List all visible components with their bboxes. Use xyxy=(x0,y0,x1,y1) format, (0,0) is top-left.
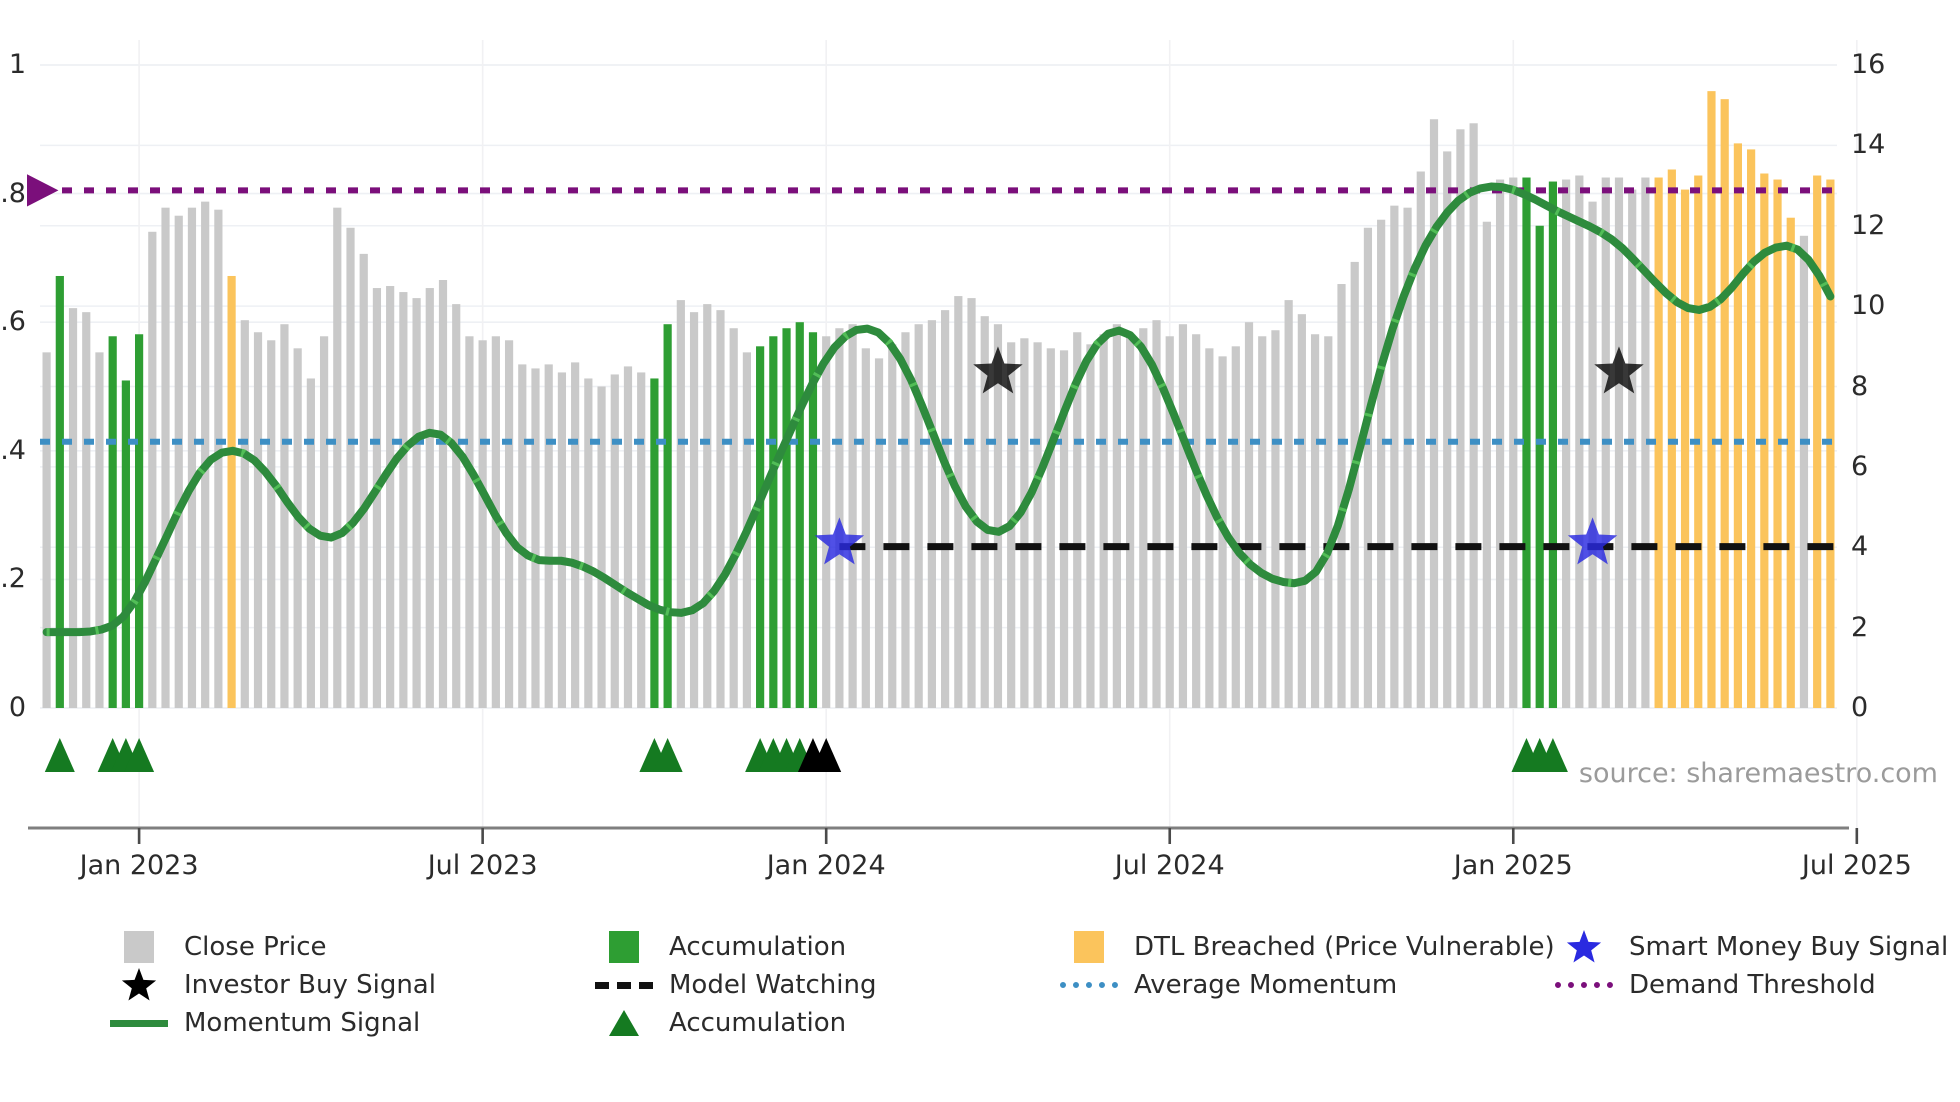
legend-label: Average Momentum xyxy=(1134,970,1397,1000)
bar-close-price[interactable] xyxy=(161,208,169,708)
legend-square-icon xyxy=(609,931,639,963)
bar-close-price[interactable] xyxy=(1271,330,1279,708)
bar-close-price[interactable] xyxy=(1086,344,1094,708)
bar-close-price[interactable] xyxy=(307,378,315,708)
bar-close-price[interactable] xyxy=(571,362,579,708)
bar-close-price[interactable] xyxy=(320,336,328,708)
bar-close-price[interactable] xyxy=(505,340,513,708)
x-axis-tick-label: Jan 2024 xyxy=(716,852,936,879)
bar-close-price[interactable] xyxy=(597,387,605,709)
bar-close-price[interactable] xyxy=(611,374,619,708)
bar-close-price[interactable] xyxy=(452,304,460,708)
legend-label: Accumulation xyxy=(669,932,846,962)
y-axis-left-tick-label: 0.8 xyxy=(0,180,26,207)
bar-close-price[interactable] xyxy=(439,280,447,708)
bar-close-price[interactable] xyxy=(188,208,196,708)
legend-square-icon xyxy=(124,931,154,963)
bar-close-price[interactable] xyxy=(558,372,566,708)
legend-line-icon xyxy=(110,1020,168,1027)
bar-close-price[interactable] xyxy=(412,298,420,708)
legend-item-average-momentum[interactable]: Average Momentum xyxy=(1060,966,1397,1004)
y-axis-right-tick-label: 6 xyxy=(1851,453,1868,480)
bar-close-price[interactable] xyxy=(1800,236,1808,708)
bar-accumulation[interactable] xyxy=(782,328,790,708)
bar-accumulation[interactable] xyxy=(650,378,658,708)
legend-square-icon xyxy=(1074,931,1104,963)
bar-close-price[interactable] xyxy=(1311,334,1319,708)
bar-close-price[interactable] xyxy=(1430,119,1438,708)
bar-close-price[interactable] xyxy=(267,340,275,708)
y-axis-right-tick-label: 10 xyxy=(1851,292,1885,319)
bar-close-price[interactable] xyxy=(716,310,724,708)
bar-close-price[interactable] xyxy=(254,332,262,708)
source-attribution: source: sharemaestro.com xyxy=(1579,758,1938,789)
bar-accumulation[interactable] xyxy=(796,322,804,708)
legend-label: Close Price xyxy=(184,932,327,962)
y-axis-right-tick-label: 16 xyxy=(1851,51,1885,78)
bar-dtl-breached[interactable] xyxy=(1747,149,1755,708)
y-axis-right-tick-label: 8 xyxy=(1851,373,1868,400)
bar-close-price[interactable] xyxy=(69,308,77,708)
bar-close-price[interactable] xyxy=(294,348,302,708)
y-axis-left-tick-label: 0.6 xyxy=(0,308,26,335)
legend-row: Momentum SignalAccumulation xyxy=(0,1004,1960,1042)
bar-close-price[interactable] xyxy=(1470,123,1478,708)
y-axis-left-tick-label: 0.4 xyxy=(0,437,26,464)
bar-close-price[interactable] xyxy=(479,340,487,708)
legend-item-momentum-signal[interactable]: Momentum Signal xyxy=(110,1004,420,1042)
bar-close-price[interactable] xyxy=(95,352,103,708)
bar-accumulation[interactable] xyxy=(769,336,777,708)
bar-accumulation[interactable] xyxy=(109,336,117,708)
demand-threshold-start-marker xyxy=(27,174,58,206)
bar-dtl-breached[interactable] xyxy=(1681,190,1689,708)
bar-close-price[interactable] xyxy=(849,324,857,708)
bar-close-price[interactable] xyxy=(1377,220,1385,708)
y-axis-right-tick-label: 12 xyxy=(1851,212,1885,239)
bar-dtl-breached[interactable] xyxy=(1734,143,1742,708)
bar-close-price[interactable] xyxy=(928,320,936,708)
legend-label: Model Watching xyxy=(669,970,876,1000)
legend-item-model-watching[interactable]: Model Watching xyxy=(595,966,876,1004)
chart-legend: Close PriceAccumulationDTL Breached (Pri… xyxy=(0,928,1960,1042)
legend-dotted-line-icon xyxy=(1060,982,1118,988)
y-axis-right-tick-label: 14 xyxy=(1851,131,1885,158)
bar-close-price[interactable] xyxy=(531,368,539,708)
legend-star-icon xyxy=(1564,927,1604,967)
bar-dtl-breached[interactable] xyxy=(1707,91,1715,708)
legend-star-icon xyxy=(119,965,159,1005)
bar-close-price[interactable] xyxy=(901,332,909,708)
y-axis-left-tick-label: 0 xyxy=(9,694,26,721)
bar-close-price[interactable] xyxy=(1298,314,1306,708)
bar-close-price[interactable] xyxy=(690,312,698,708)
bar-dtl-breached[interactable] xyxy=(227,276,235,708)
legend-item-close-price[interactable]: Close Price xyxy=(110,928,327,966)
bar-close-price[interactable] xyxy=(1628,190,1636,708)
bar-close-price[interactable] xyxy=(399,292,407,708)
bar-close-price[interactable] xyxy=(1443,151,1451,708)
bar-close-price[interactable] xyxy=(1245,322,1253,708)
legend-label: DTL Breached (Price Vulnerable) xyxy=(1134,932,1555,962)
legend-dotted-line-icon xyxy=(1555,982,1613,988)
bar-close-price[interactable] xyxy=(1324,336,1332,708)
legend-dashed-line-icon xyxy=(595,982,653,989)
x-axis-tick-label: Jan 2025 xyxy=(1403,852,1623,879)
bar-close-price[interactable] xyxy=(1285,300,1293,708)
x-axis-tick-label: Jul 2023 xyxy=(373,852,593,879)
y-axis-left-tick-label: 0.2 xyxy=(0,565,26,592)
bar-close-price[interactable] xyxy=(465,336,473,708)
legend-item-dtl-breached[interactable]: DTL Breached (Price Vulnerable) xyxy=(1060,928,1555,966)
bar-close-price[interactable] xyxy=(888,344,896,708)
legend-label: Momentum Signal xyxy=(184,1008,420,1038)
bar-dtl-breached[interactable] xyxy=(1668,169,1676,708)
bar-accumulation[interactable] xyxy=(1549,182,1557,708)
legend-item-demand-threshold[interactable]: Demand Threshold xyxy=(1555,966,1876,1004)
bar-close-price[interactable] xyxy=(1483,222,1491,708)
bar-close-price[interactable] xyxy=(1364,228,1372,708)
y-axis-right-tick-label: 2 xyxy=(1851,614,1868,641)
bar-close-price[interactable] xyxy=(1615,178,1623,708)
bar-close-price[interactable] xyxy=(1456,129,1464,708)
y-axis-right-tick-label: 0 xyxy=(1851,694,1868,721)
bar-accumulation[interactable] xyxy=(1536,226,1544,708)
bar-close-price[interactable] xyxy=(1179,324,1187,708)
bar-close-price[interactable] xyxy=(1139,328,1147,708)
bar-close-price[interactable] xyxy=(967,298,975,708)
bar-accumulation[interactable] xyxy=(122,380,130,708)
legend-item-accumulation-bar[interactable]: Accumulation xyxy=(595,928,846,966)
bar-close-price[interactable] xyxy=(333,208,341,708)
bar-close-price[interactable] xyxy=(201,202,209,708)
bar-close-price[interactable] xyxy=(1192,334,1200,708)
y-axis-left-tick-label: 1 xyxy=(9,51,26,78)
bar-close-price[interactable] xyxy=(637,372,645,708)
bar-close-price[interactable] xyxy=(346,228,354,708)
bar-close-price[interactable] xyxy=(1205,348,1213,708)
legend-triangle-icon xyxy=(605,1006,643,1040)
bar-close-price[interactable] xyxy=(545,364,553,708)
accumulation-triangle-marker[interactable] xyxy=(45,738,75,772)
legend-label: Smart Money Buy Signal xyxy=(1629,932,1948,962)
bar-close-price[interactable] xyxy=(175,216,183,708)
bar-accumulation[interactable] xyxy=(756,346,764,708)
legend-row: Investor Buy SignalModel WatchingAverage… xyxy=(0,966,1960,1004)
bar-close-price[interactable] xyxy=(677,300,685,708)
chart-root: 00.20.40.60.81 0246810121416 Jan 2023Jul… xyxy=(0,0,1960,1102)
bar-close-price[interactable] xyxy=(875,358,883,708)
legend-label: Demand Threshold xyxy=(1629,970,1876,1000)
bar-close-price[interactable] xyxy=(1100,334,1108,708)
bar-close-price[interactable] xyxy=(148,232,156,708)
y-axis-right-tick-label: 4 xyxy=(1851,533,1868,560)
bar-close-price[interactable] xyxy=(280,324,288,708)
bar-close-price[interactable] xyxy=(43,352,51,708)
bar-close-price[interactable] xyxy=(703,304,711,708)
bar-accumulation[interactable] xyxy=(664,324,672,708)
bar-close-price[interactable] xyxy=(1047,348,1055,708)
bar-dtl-breached[interactable] xyxy=(1813,176,1821,708)
legend-label: Investor Buy Signal xyxy=(184,970,436,1000)
bar-close-price[interactable] xyxy=(822,336,830,708)
legend-item-investor-buy-signal[interactable]: Investor Buy Signal xyxy=(110,966,436,1004)
bar-close-price[interactable] xyxy=(1113,324,1121,708)
bar-close-price[interactable] xyxy=(1020,338,1028,708)
legend-row: Close PriceAccumulationDTL Breached (Pri… xyxy=(0,928,1960,966)
bar-close-price[interactable] xyxy=(518,364,526,708)
bar-accumulation[interactable] xyxy=(135,334,143,708)
bar-close-price[interactable] xyxy=(386,286,394,708)
bar-close-price[interactable] xyxy=(584,378,592,708)
bar-close-price[interactable] xyxy=(82,312,90,708)
bar-close-price[interactable] xyxy=(1588,202,1596,708)
bar-accumulation[interactable] xyxy=(56,276,64,708)
legend-label: Accumulation xyxy=(669,1008,846,1038)
x-axis-tick-label: Jul 2025 xyxy=(1747,852,1960,879)
bar-close-price[interactable] xyxy=(624,366,632,708)
bar-close-price[interactable] xyxy=(730,328,738,708)
bar-close-price[interactable] xyxy=(1232,346,1240,708)
bar-close-price[interactable] xyxy=(1390,206,1398,708)
bar-close-price[interactable] xyxy=(941,310,949,708)
bar-close-price[interactable] xyxy=(1126,334,1134,708)
bar-close-price[interactable] xyxy=(360,254,368,708)
bar-close-price[interactable] xyxy=(862,348,870,708)
legend-item-smart-money-buy-signal[interactable]: Smart Money Buy Signal xyxy=(1555,928,1948,966)
legend-item-accumulation-triangle[interactable]: Accumulation xyxy=(595,1004,846,1042)
x-axis-tick-label: Jan 2023 xyxy=(29,852,249,879)
bar-close-price[interactable] xyxy=(1258,336,1266,708)
bar-dtl-breached[interactable] xyxy=(1787,218,1795,708)
x-axis-tick-label: Jul 2024 xyxy=(1060,852,1280,879)
bar-close-price[interactable] xyxy=(426,288,434,708)
bar-close-price[interactable] xyxy=(241,320,249,708)
bar-close-price[interactable] xyxy=(1034,342,1042,708)
